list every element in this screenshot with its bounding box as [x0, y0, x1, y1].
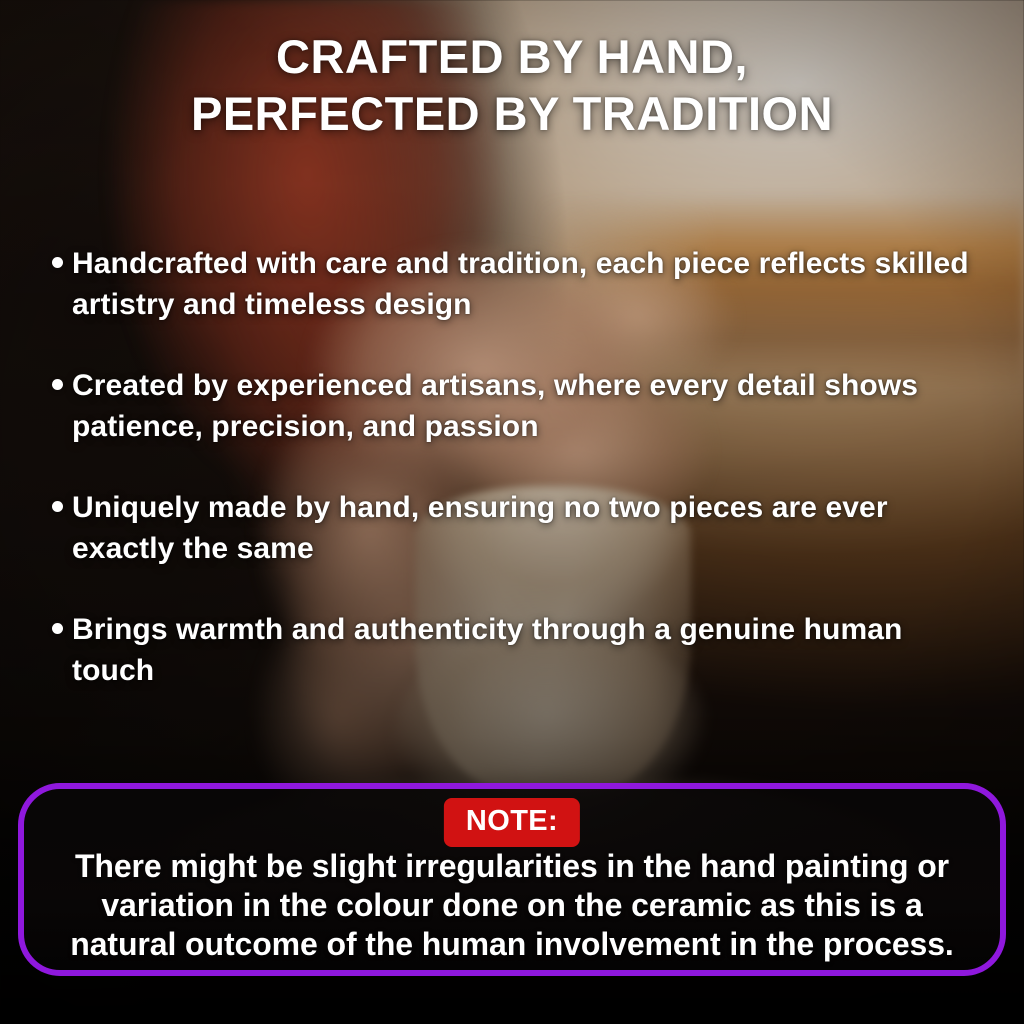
- list-item: Created by experienced artisans, where e…: [52, 365, 987, 447]
- bullet-text: Uniquely made by hand, ensuring no two p…: [72, 487, 987, 569]
- note-line-1: There might be slight irregularities in …: [38, 847, 986, 886]
- poster-content: CRAFTED BY HAND, PERFECTED BY TRADITION …: [0, 0, 1024, 1024]
- list-item: Handcrafted with care and tradition, eac…: [52, 243, 987, 325]
- bullet-text: Created by experienced artisans, where e…: [72, 365, 987, 447]
- headline-line-1: CRAFTED BY HAND,: [0, 28, 1024, 85]
- note-callout-box: NOTE: There might be slight irregulariti…: [18, 783, 1006, 976]
- bullet-text: Handcrafted with care and tradition, eac…: [72, 243, 987, 325]
- list-item: Brings warmth and authenticity through a…: [52, 609, 987, 691]
- bullet-dot-icon: [52, 501, 63, 512]
- note-line-2: variation in the colour done on the cera…: [38, 886, 986, 925]
- bullet-dot-icon: [52, 623, 63, 634]
- note-line-3: natural outcome of the human involvement…: [38, 925, 986, 964]
- poster-headline: CRAFTED BY HAND, PERFECTED BY TRADITION: [0, 28, 1024, 142]
- note-badge: NOTE:: [444, 798, 580, 847]
- feature-bullet-list: Handcrafted with care and tradition, eac…: [52, 243, 987, 731]
- bullet-text: Brings warmth and authenticity through a…: [72, 609, 987, 691]
- bullet-dot-icon: [52, 379, 63, 390]
- product-info-poster: CRAFTED BY HAND, PERFECTED BY TRADITION …: [0, 0, 1024, 1024]
- list-item: Uniquely made by hand, ensuring no two p…: [52, 487, 987, 569]
- headline-line-2: PERFECTED BY TRADITION: [0, 85, 1024, 142]
- note-body-text: There might be slight irregularities in …: [38, 847, 986, 964]
- bullet-dot-icon: [52, 257, 63, 268]
